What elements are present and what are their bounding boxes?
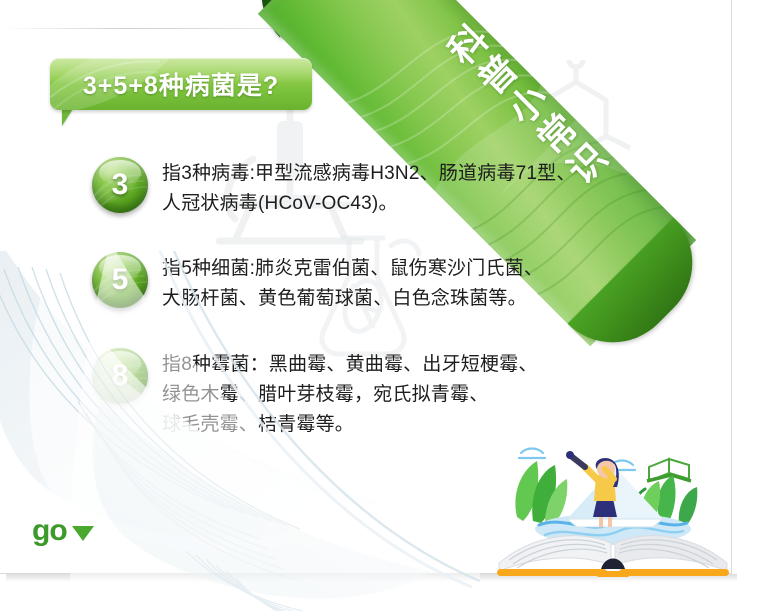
badge-number: 8 (92, 348, 148, 404)
text-line: 大肠杆菌、黄色葡萄球菌、白色念珠菌等。 (162, 284, 543, 314)
text-line: 人冠状病毒(HCoV-OC43)。 (162, 189, 576, 219)
number-badge: 8 (92, 348, 148, 404)
text-line: 绿色木霉、腊叶芽枝霉，宛氏拟青霉、 (162, 380, 538, 410)
list-item-text: 指3种病毒:甲型流感病毒H3N2、肠道病毒71型、 人冠状病毒(HCoV-OC4… (162, 157, 576, 219)
list-item-text: 指8种霉菌：黑曲霉、黄曲霉、出牙短梗霉、 绿色木霉、腊叶芽枝霉，宛氏拟青霉、 球… (162, 348, 538, 440)
infographic-poster: Ph (0, 0, 760, 611)
list-item-text: 指5种细菌:肺炎克雷伯菌、鼠伤寒沙门氏菌、 大肠杆菌、黄色葡萄球菌、白色念珠菌等… (162, 252, 543, 314)
go-logo[interactable]: go (32, 516, 94, 546)
go-logo-text: go (32, 516, 67, 546)
text-line: 指5种细菌:肺炎克雷伯菌、鼠伤寒沙门氏菌、 (162, 254, 543, 284)
badge-number: 5 (92, 252, 148, 308)
text-line: 指3种病毒:甲型流感病毒H3N2、肠道病毒71型、 (162, 159, 576, 189)
triangle-down-icon (72, 526, 94, 541)
text-line: 球毛壳霉、桔青霉等。 (162, 410, 538, 440)
list-item: 3 指3种病毒:甲型流感病毒H3N2、肠道病毒71型、 人冠状病毒(HCoV-O… (92, 157, 576, 219)
badge-number: 3 (92, 157, 148, 213)
number-badge: 3 (92, 157, 148, 213)
open-book-illustration (493, 425, 733, 577)
list-item: 8 指8种霉菌：黑曲霉、黄曲霉、出牙短梗霉、 绿色木霉、腊叶芽枝霉，宛氏拟青霉、… (92, 348, 538, 440)
text-line: 指8种霉菌：黑曲霉、黄曲霉、出牙短梗霉、 (162, 350, 538, 380)
list-item: 5 指5种细菌:肺炎克雷伯菌、鼠伤寒沙门氏菌、 大肠杆菌、黄色葡萄球菌、白色念珠… (92, 252, 543, 314)
number-badge: 5 (92, 252, 148, 308)
